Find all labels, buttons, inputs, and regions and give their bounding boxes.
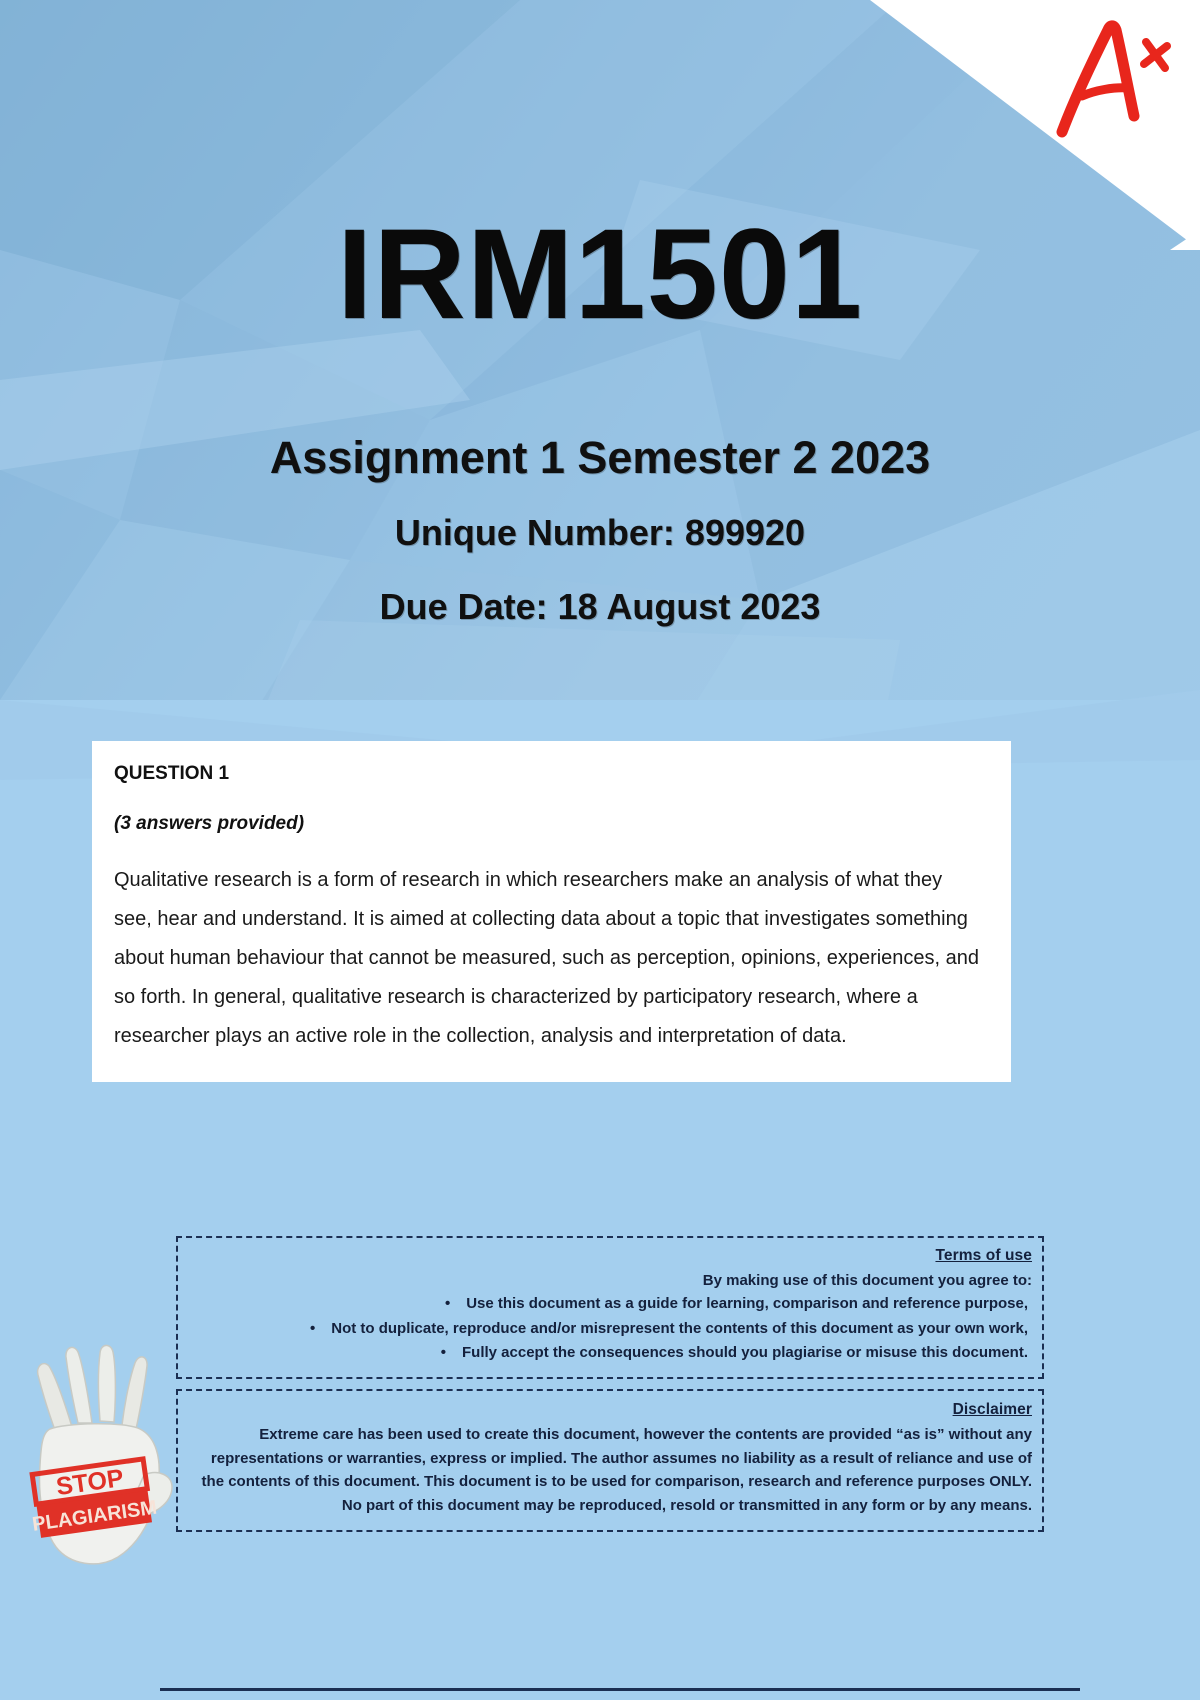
terms-lead-text: By making use of this document you agree…	[192, 1269, 1032, 1292]
question-heading: QUESTION 1	[114, 763, 985, 785]
list-item: •Fully accept the consequences should yo…	[192, 1341, 1032, 1365]
assignment-subtitle: Assignment 1 Semester 2 2023	[0, 432, 1200, 484]
terms-of-use-box: Terms of use By making use of this docum…	[176, 1236, 1044, 1379]
bullet-icon: •	[441, 1341, 446, 1365]
disclaimer-text: Extreme care has been used to create thi…	[192, 1423, 1032, 1518]
bullet-icon: •	[445, 1292, 450, 1316]
terms-of-use-heading: Terms of use	[192, 1247, 1032, 1265]
terms-bullet-text: Use this document as a guide for learnin…	[466, 1295, 1028, 1312]
bullet-icon: •	[310, 1317, 315, 1341]
terms-bullet-text: Not to duplicate, reproduce and/or misre…	[331, 1320, 1028, 1337]
terms-bullet-text: Fully accept the consequences should you…	[462, 1344, 1028, 1361]
question-answer-body: Qualitative research is a form of resear…	[114, 861, 985, 1056]
unique-number-line: Unique Number: 899920	[0, 512, 1200, 554]
list-item: •Use this document as a guide for learni…	[192, 1292, 1032, 1316]
stop-plagiarism-hand-icon: STOP PLAGIARISM	[12, 1325, 192, 1580]
disclaimer-heading: Disclaimer	[192, 1401, 1032, 1419]
bottom-divider	[160, 1688, 1080, 1691]
due-date-line: Due Date: 18 August 2023	[0, 586, 1200, 628]
page-title-course-code: IRM1501	[0, 208, 1200, 342]
disclaimer-box: Disclaimer Extreme care has been used to…	[176, 1389, 1044, 1532]
answers-provided-note: (3 answers provided)	[114, 813, 985, 835]
question-panel: QUESTION 1 (3 answers provided) Qualitat…	[92, 741, 1011, 1082]
terms-bullet-list: •Use this document as a guide for learni…	[192, 1292, 1032, 1365]
list-item: •Not to duplicate, reproduce and/or misr…	[192, 1317, 1032, 1341]
page-canvas: IRM1501 Assignment 1 Semester 2 2023 Uni…	[0, 0, 1200, 1700]
